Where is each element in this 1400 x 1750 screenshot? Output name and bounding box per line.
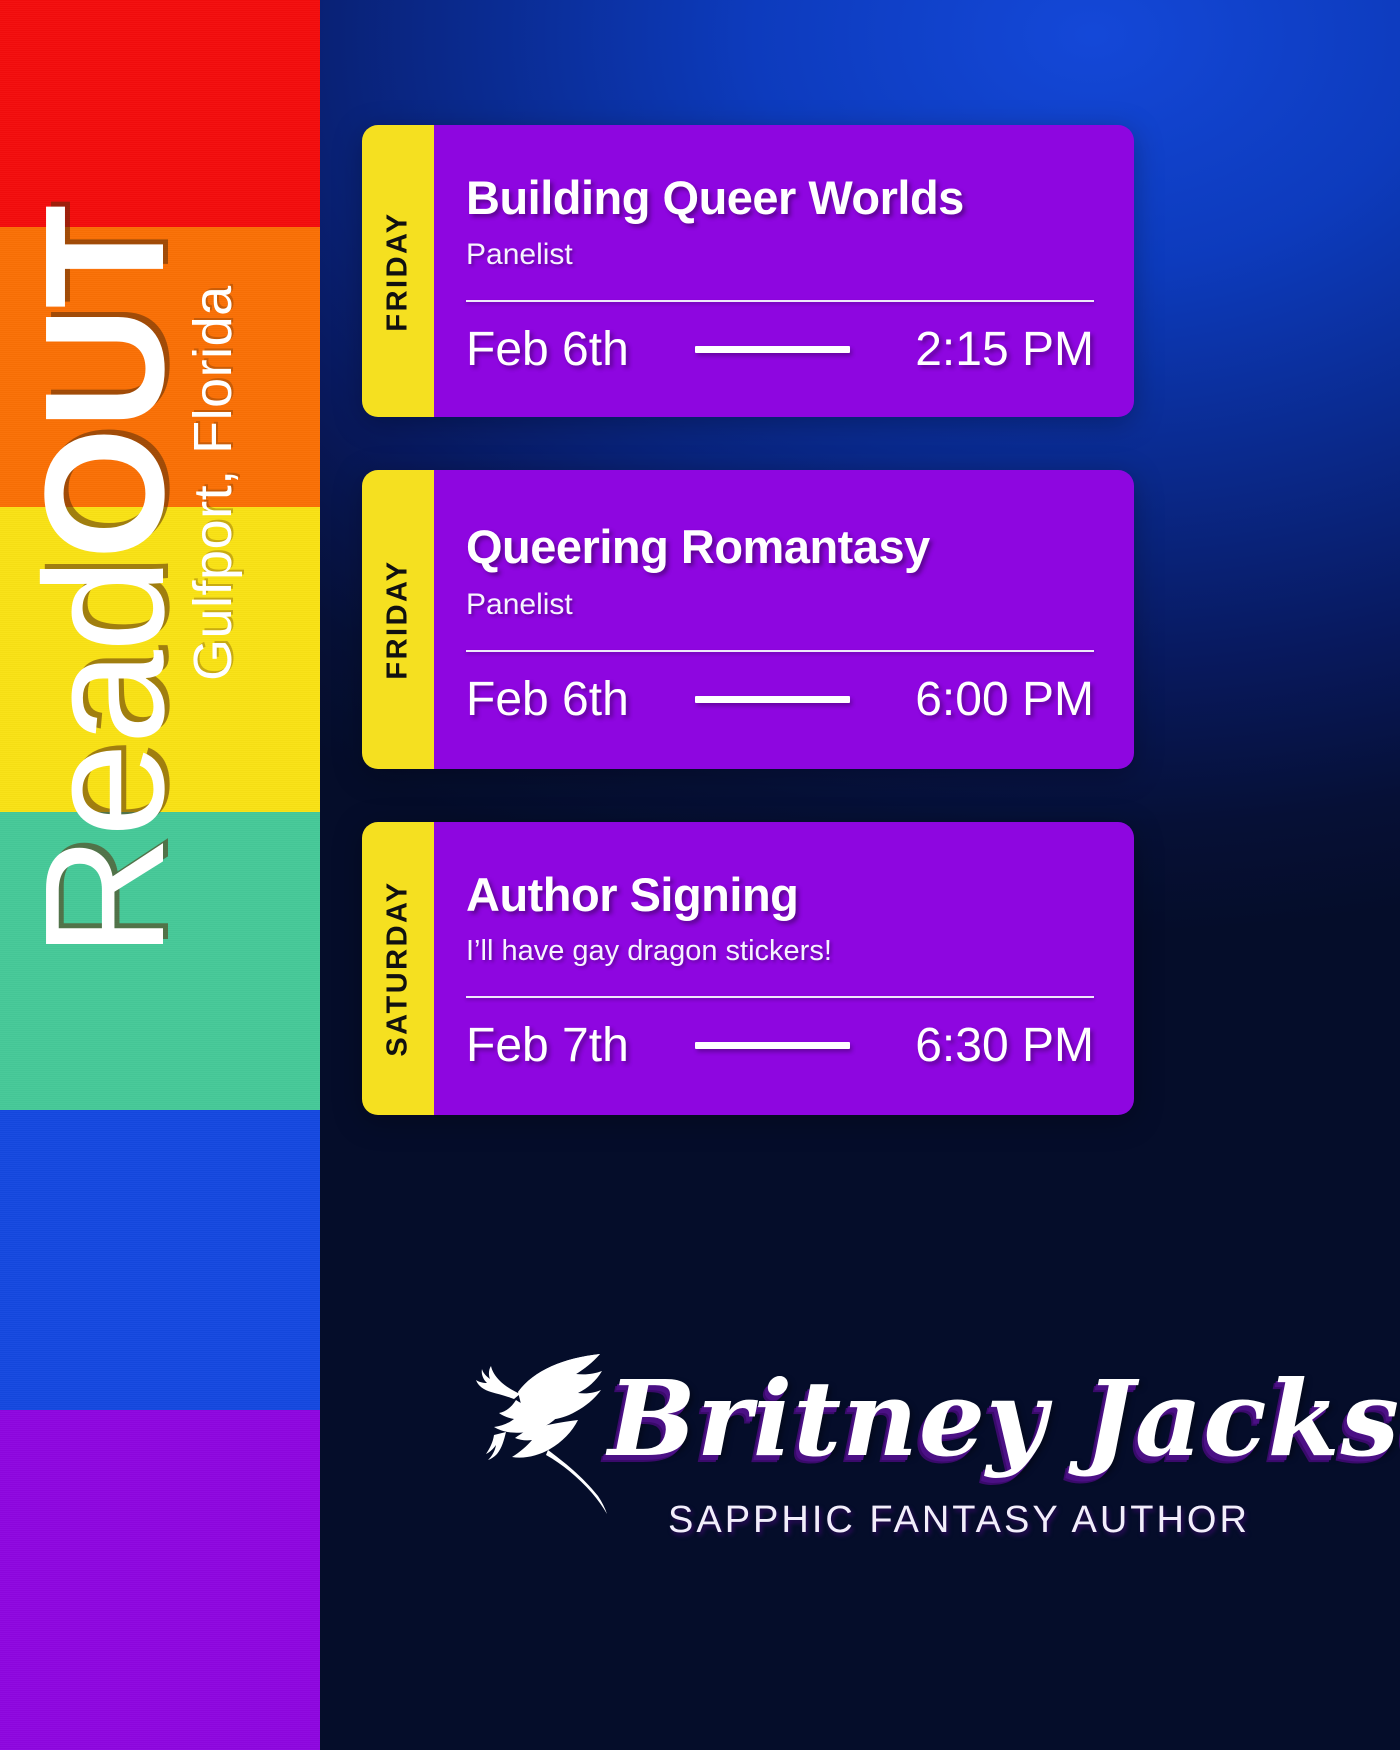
event-card-list: FRIDAY Building Queer Worlds Panelist Fe… <box>362 125 1134 1168</box>
event-meta-row: Feb 6th 2:15 PM <box>466 322 1094 377</box>
event-date: Feb 6th <box>466 672 629 727</box>
card-divider <box>466 650 1094 652</box>
day-tab: FRIDAY <box>362 470 434 768</box>
signature-row: Britney Jackson SAPPHIC FANTASY AUTHOR <box>440 1334 1200 1484</box>
meta-separator-rule <box>695 346 850 353</box>
day-tab: FRIDAY <box>362 125 434 417</box>
flag-band-purple <box>0 1410 320 1750</box>
event-card[interactable]: SATURDAY Author Signing I’ll have gay dr… <box>362 822 1134 1115</box>
pride-flag-panel <box>0 0 320 1750</box>
event-title: Author Signing <box>466 870 1094 919</box>
meta-separator-rule <box>695 696 850 703</box>
event-title: Building Queer Worlds <box>466 173 1094 222</box>
event-date: Feb 7th <box>466 1018 629 1073</box>
flag-band-orange <box>0 227 320 507</box>
flag-band-green <box>0 812 320 1110</box>
flag-band-red <box>0 0 320 227</box>
event-meta-row: Feb 7th 6:30 PM <box>466 1018 1094 1073</box>
event-meta-row: Feb 6th 6:00 PM <box>466 672 1094 727</box>
author-tagline: SAPPHIC FANTASY AUTHOR <box>668 1499 1250 1542</box>
author-branding: Britney Jackson SAPPHIC FANTASY AUTHOR <box>440 1334 1200 1554</box>
day-tab-label: FRIDAY <box>382 211 415 331</box>
event-date: Feb 6th <box>466 322 629 377</box>
event-role: Panelist <box>466 588 1094 622</box>
day-tab-label: FRIDAY <box>382 559 415 679</box>
day-tab: SATURDAY <box>362 822 434 1115</box>
card-divider <box>466 300 1094 302</box>
event-role: I’ll have gay dragon stickers! <box>466 935 1094 968</box>
event-card-body: Author Signing I’ll have gay dragon stic… <box>418 822 1134 1115</box>
event-time: 6:30 PM <box>915 1018 1094 1073</box>
event-card-body: Queering Romantasy Panelist Feb 6th 6:00… <box>418 470 1134 768</box>
event-time: 6:00 PM <box>915 672 1094 727</box>
event-schedule-poster: ReadOUT Gulfport, Florida FRIDAY Buildin… <box>0 0 1400 1750</box>
author-signature-name: Britney Jackson <box>608 1357 1400 1480</box>
flag-band-yellow <box>0 507 320 812</box>
event-time: 2:15 PM <box>915 322 1094 377</box>
card-divider <box>466 996 1094 998</box>
meta-separator-rule <box>695 1042 850 1049</box>
event-card-body: Building Queer Worlds Panelist Feb 6th 2… <box>418 125 1134 417</box>
flag-band-blue <box>0 1110 320 1410</box>
day-tab-label: SATURDAY <box>382 880 415 1056</box>
event-title: Queering Romantasy <box>466 522 1094 571</box>
event-role: Panelist <box>466 238 1094 272</box>
event-card[interactable]: FRIDAY Building Queer Worlds Panelist Fe… <box>362 125 1134 417</box>
event-card[interactable]: FRIDAY Queering Romantasy Panelist Feb 6… <box>362 470 1134 768</box>
